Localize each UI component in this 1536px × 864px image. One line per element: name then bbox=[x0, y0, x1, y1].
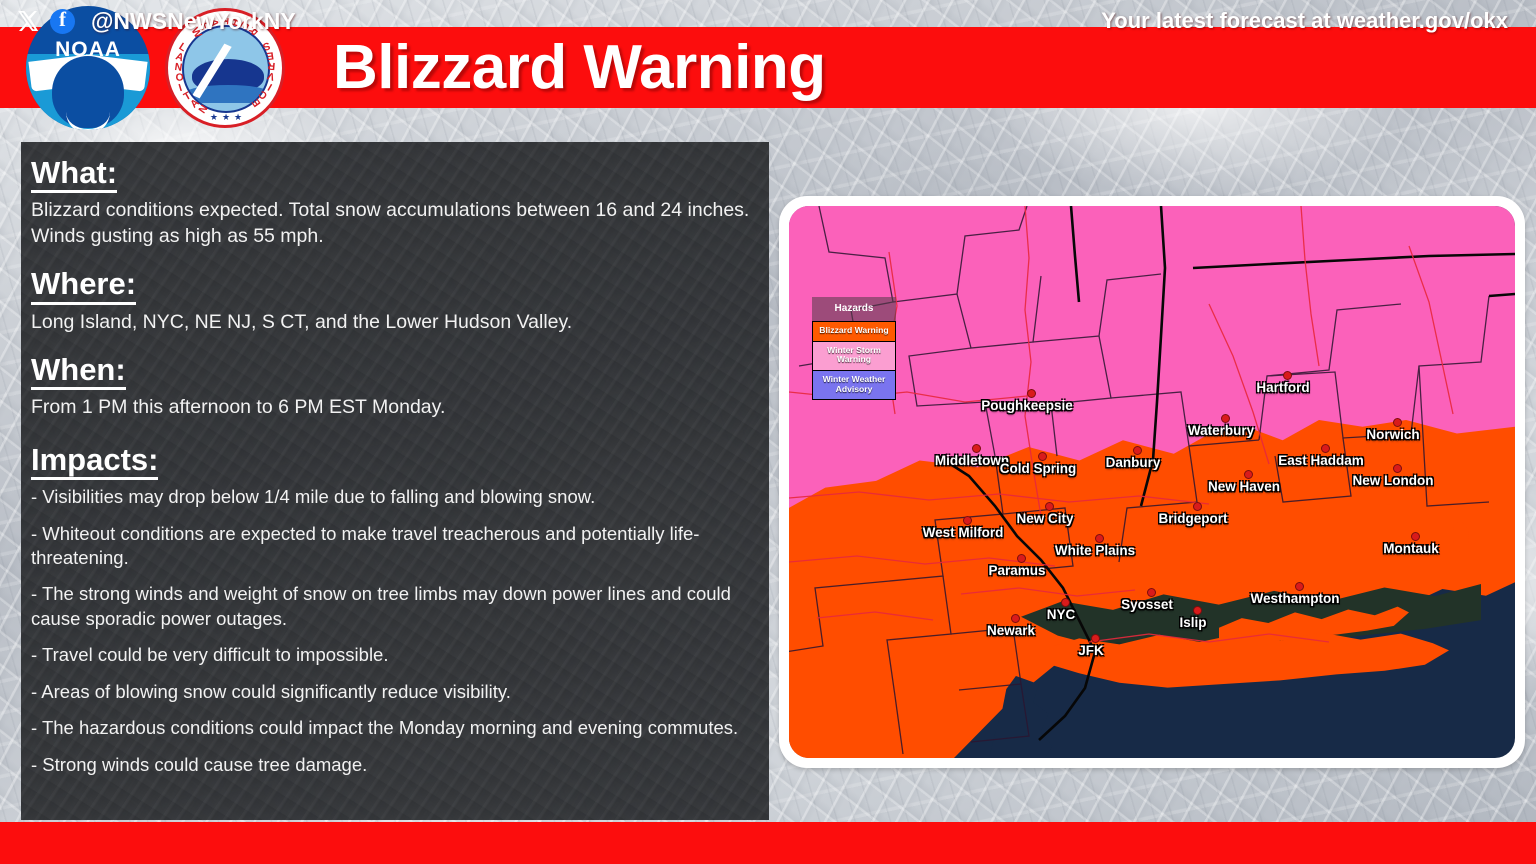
impact-item: - Strong winds could cause tree damage. bbox=[31, 753, 753, 777]
legend-item-winter-weather-advisory: Winter Weather Advisory bbox=[812, 371, 896, 400]
section-what: What: Blizzard conditions expected. Tota… bbox=[31, 156, 753, 249]
section-impacts: Impacts: - Visibilities may drop below 1… bbox=[31, 439, 753, 777]
city-label: White Plains bbox=[1055, 543, 1135, 558]
footer-social: @NWSNewYorkNY bbox=[16, 0, 296, 42]
city-label: Waterbury bbox=[1188, 423, 1254, 438]
hazard-map-canvas[interactable]: Hazards Blizzard Warning Winter Storm Wa… bbox=[789, 206, 1515, 758]
impacts-heading: Impacts: bbox=[31, 443, 158, 480]
hazards-legend: Hazards Blizzard Warning Winter Storm Wa… bbox=[812, 297, 896, 400]
social-handle: @NWSNewYorkNY bbox=[91, 8, 296, 35]
legend-title: Hazards bbox=[812, 297, 896, 321]
city-dot-icon bbox=[1193, 606, 1202, 615]
section-when: When: From 1 PM this afternoon to 6 PM E… bbox=[31, 353, 753, 421]
city-label: Paramus bbox=[988, 563, 1045, 578]
impact-item: - Whiteout conditions are expected to ma… bbox=[31, 522, 753, 571]
impacts-list: - Visibilities may drop below 1/4 mile d… bbox=[31, 485, 753, 777]
city-label: Norwich bbox=[1366, 427, 1419, 442]
city-dot-icon bbox=[1017, 554, 1026, 563]
city-dot-icon bbox=[1095, 534, 1104, 543]
city-dot-icon bbox=[1393, 418, 1402, 427]
impact-item: - Visibilities may drop below 1/4 mile d… bbox=[31, 485, 753, 509]
city-label: Hartford bbox=[1256, 380, 1309, 395]
city-dot-icon bbox=[1045, 502, 1054, 511]
city-dot-icon bbox=[1295, 582, 1304, 591]
city-label: New Haven bbox=[1208, 479, 1280, 494]
city-label: JFK bbox=[1078, 643, 1104, 658]
what-body: Blizzard conditions expected. Total snow… bbox=[31, 198, 753, 249]
forecast-link-text: Your latest forecast at weather.gov/okx bbox=[1101, 0, 1508, 42]
where-body: Long Island, NYC, NE NJ, S CT, and the L… bbox=[31, 310, 753, 335]
city-label: Islip bbox=[1179, 615, 1206, 630]
x-logo-icon[interactable] bbox=[16, 9, 40, 33]
when-body: From 1 PM this afternoon to 6 PM EST Mon… bbox=[31, 395, 753, 420]
city-dot-icon bbox=[1147, 588, 1156, 597]
impact-item: - The strong winds and weight of snow on… bbox=[31, 582, 753, 631]
city-label: West Milford bbox=[923, 525, 1004, 540]
city-label: East Haddam bbox=[1278, 453, 1364, 468]
city-dot-icon bbox=[963, 516, 972, 525]
city-dot-icon bbox=[1061, 598, 1070, 607]
city-label: New London bbox=[1353, 473, 1434, 488]
city-label: Danbury bbox=[1106, 455, 1161, 470]
city-dot-icon bbox=[1193, 502, 1202, 511]
city-label: Montauk bbox=[1383, 541, 1439, 556]
what-heading: What: bbox=[31, 156, 117, 193]
footer-red-bar bbox=[0, 822, 1536, 864]
city-dot-icon bbox=[1321, 444, 1330, 453]
city-dot-icon bbox=[1393, 464, 1402, 473]
section-where: Where: Long Island, NYC, NE NJ, S CT, an… bbox=[31, 267, 753, 335]
facebook-icon[interactable] bbox=[50, 9, 75, 34]
legend-item-blizzard-warning: Blizzard Warning bbox=[812, 321, 896, 342]
impact-item: - The hazardous conditions could impact … bbox=[31, 716, 753, 740]
city-label: NYC bbox=[1047, 607, 1076, 622]
legend-item-winter-storm-warning: Winter Storm Warning bbox=[812, 342, 896, 371]
city-label: Poughkeepsie bbox=[981, 398, 1073, 413]
city-dot-icon bbox=[1038, 452, 1047, 461]
city-label: Middletown bbox=[935, 453, 1009, 468]
impact-item: - Areas of blowing snow could significan… bbox=[31, 680, 753, 704]
city-label: Cold Spring bbox=[1000, 461, 1077, 476]
hazard-map-card[interactable]: Hazards Blizzard Warning Winter Storm Wa… bbox=[779, 196, 1525, 768]
city-dot-icon bbox=[1221, 414, 1230, 423]
city-dot-icon bbox=[972, 444, 981, 453]
warning-info-panel: What: Blizzard conditions expected. Tota… bbox=[21, 142, 769, 820]
city-dot-icon bbox=[1283, 371, 1292, 380]
city-dot-icon bbox=[1027, 389, 1036, 398]
city-dot-icon bbox=[1411, 532, 1420, 541]
city-dot-icon bbox=[1011, 614, 1020, 623]
city-label: New City bbox=[1016, 511, 1073, 526]
impact-item: - Travel could be very difficult to impo… bbox=[31, 643, 753, 667]
city-dot-icon bbox=[1133, 446, 1142, 455]
city-dot-icon bbox=[1091, 634, 1100, 643]
when-heading: When: bbox=[31, 353, 126, 390]
city-label: Westhampton bbox=[1250, 591, 1339, 606]
city-label: Syosset bbox=[1121, 597, 1173, 612]
where-heading: Where: bbox=[31, 267, 136, 304]
city-label: Newark bbox=[987, 623, 1035, 638]
city-dot-icon bbox=[1244, 470, 1253, 479]
page-title: Blizzard Warning bbox=[333, 28, 826, 108]
city-label: Bridgeport bbox=[1159, 511, 1228, 526]
